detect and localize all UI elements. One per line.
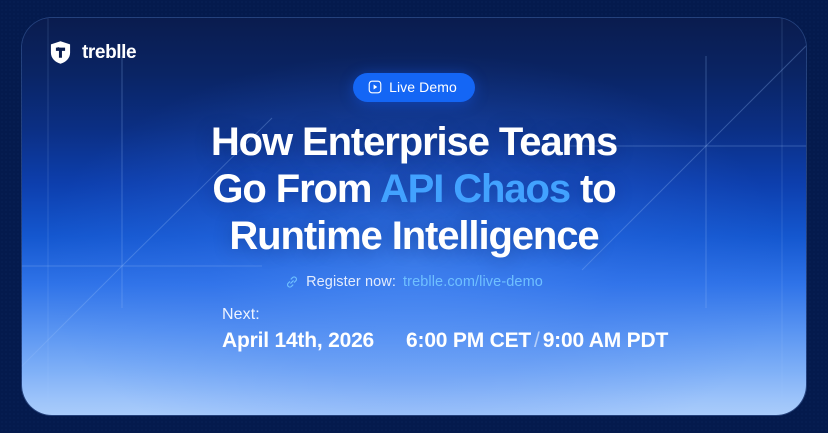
register-line[interactable]: Register now: treblle.com/live-demo bbox=[285, 274, 543, 290]
time-primary: 6:00 PM CET bbox=[406, 329, 531, 352]
headline-line-1: How Enterprise Teams bbox=[211, 119, 617, 166]
slide-canvas: treblle Live Demo How Enterprise Teams G… bbox=[0, 0, 828, 433]
headline-line-2-pre: Go From bbox=[212, 167, 380, 211]
headline-accent: API Chaos bbox=[380, 167, 570, 211]
schedule-block: Next: April 14th, 2026 6:00 PM CET/9:00 … bbox=[222, 306, 668, 353]
badge-label: Live Demo bbox=[389, 79, 457, 95]
register-label: Register now: bbox=[306, 274, 396, 290]
link-icon bbox=[285, 275, 299, 289]
brand-name: treblle bbox=[82, 42, 136, 64]
headline-line-3: Runtime Intelligence bbox=[211, 213, 617, 260]
content-stack: Live Demo How Enterprise Teams Go From A… bbox=[22, 73, 806, 290]
register-url[interactable]: treblle.com/live-demo bbox=[403, 274, 543, 290]
headline: How Enterprise Teams Go From API Chaos t… bbox=[211, 119, 617, 260]
play-square-icon bbox=[368, 80, 382, 94]
headline-line-2-post: to bbox=[570, 167, 616, 211]
event-time: 6:00 PM CET/9:00 AM PDT bbox=[406, 329, 668, 353]
event-date: April 14th, 2026 bbox=[222, 329, 374, 353]
date-row: April 14th, 2026 6:00 PM CET/9:00 AM PDT bbox=[222, 329, 668, 353]
time-secondary: 9:00 AM PDT bbox=[543, 329, 668, 352]
treblle-shield-icon bbox=[48, 40, 73, 65]
next-label: Next: bbox=[222, 306, 668, 324]
headline-line-2: Go From API Chaos to bbox=[211, 166, 617, 213]
promo-panel: treblle Live Demo How Enterprise Teams G… bbox=[22, 18, 806, 415]
brand-logo[interactable]: treblle bbox=[48, 40, 136, 65]
live-demo-badge[interactable]: Live Demo bbox=[353, 73, 475, 102]
time-separator: / bbox=[531, 329, 543, 352]
